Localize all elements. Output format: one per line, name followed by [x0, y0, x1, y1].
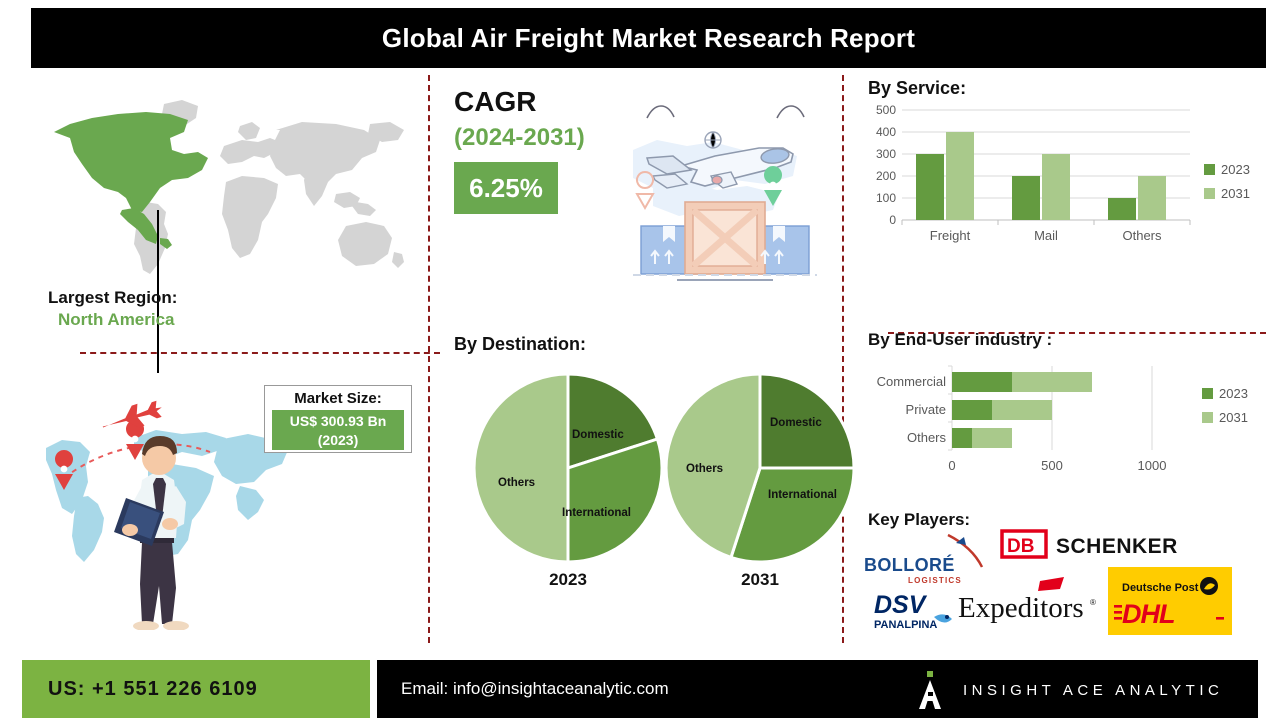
- middle-column: CAGR (2024-2031) 6.25%: [438, 70, 836, 645]
- right-column: By Service: 0 100 200 300 4: [852, 70, 1272, 645]
- y-tick-200: 200: [876, 169, 896, 183]
- infographic-body: Largest Region: North America: [0, 70, 1280, 650]
- bar-private-2023: [952, 400, 992, 420]
- bar-others-2023: [952, 428, 972, 448]
- y-tick-0: 0: [889, 213, 896, 227]
- legend-swatch-2023: [1204, 164, 1215, 175]
- market-size-card: Market Size: US$ 300.93 Bn (2023): [264, 385, 412, 453]
- svg-text:®: ®: [1090, 598, 1096, 607]
- bar-others-2031: [972, 428, 1012, 448]
- footer-phone: US: +1 551 226 6109: [48, 678, 258, 701]
- by-destination-title: By Destination:: [454, 334, 586, 355]
- market-size-value: US$ 300.93 Bn (2023): [272, 410, 404, 450]
- market-size-label: Market Size:: [294, 390, 382, 407]
- pie-slice-label-others: Others: [498, 477, 535, 489]
- pie-slice-label-domestic: Domestic: [770, 417, 822, 429]
- largest-region-value: North America: [58, 310, 177, 330]
- svg-text:SCHENKER: SCHENKER: [1056, 535, 1178, 558]
- cagr-period: (2024-2031): [454, 124, 585, 152]
- y-tick-100: 100: [876, 191, 896, 205]
- pie-year-2023-label: 2023: [468, 570, 668, 590]
- bar-mail-2031: [1042, 154, 1070, 220]
- pie-slice-label-international: International: [768, 489, 837, 501]
- x-tick-0: 0: [948, 458, 955, 473]
- pie-slice-label-others: Others: [686, 463, 723, 475]
- destination-pie-2031: Domestic International Others: [660, 368, 860, 568]
- cagr-value: 6.25%: [469, 173, 543, 204]
- deutsche-post-dhl-logo: Deutsche Post DHL: [1108, 567, 1232, 635]
- legend-label-2023: 2023: [1221, 162, 1250, 177]
- bar-commercial-2023: [952, 372, 1012, 392]
- by-service-title: By Service:: [868, 78, 966, 99]
- pie-year-2031-label: 2031: [660, 570, 860, 590]
- svg-text:BOLLORÉ: BOLLORÉ: [864, 554, 955, 575]
- y-tick-400: 400: [876, 125, 896, 139]
- x-cat-others: Others: [1122, 228, 1162, 243]
- db-schenker-logo: DB SCHENKER: [1002, 531, 1178, 558]
- y-cat-commercial: Commercial: [877, 374, 946, 389]
- company-name: INSIGHT ACE ANALYTIC: [963, 682, 1223, 699]
- x-cat-freight: Freight: [930, 228, 971, 243]
- x-tick-500: 500: [1041, 458, 1063, 473]
- svg-text:DSV: DSV: [874, 591, 928, 619]
- svg-text:DHL: DHL: [1122, 599, 1175, 629]
- company-logo: INSIGHT ACE ANALYTIC: [917, 671, 1223, 709]
- legend-label-2031: 2031: [1219, 410, 1248, 425]
- svg-text:DB: DB: [1007, 536, 1034, 557]
- cagr-title: CAGR: [454, 86, 585, 118]
- page-footer: US: +1 551 226 6109 Email: info@insighta…: [0, 658, 1280, 720]
- key-players-logos: BOLLORÉ LOGISTICS DB SCHENKER DSV PANALP…: [860, 525, 1268, 640]
- y-cat-private: Private: [906, 402, 946, 417]
- dsv-panalpina-logo: DSV PANALPINA: [874, 591, 952, 631]
- bollore-logistics-logo: BOLLORÉ LOGISTICS: [864, 535, 982, 585]
- airplane-cargo-illustration: [623, 92, 828, 282]
- y-cat-others: Others: [907, 430, 947, 445]
- svg-text:LOGISTICS: LOGISTICS: [908, 576, 962, 585]
- expeditors-logo: Expeditors ®: [958, 577, 1096, 624]
- airplane-cargo-icon: [623, 92, 828, 282]
- y-tick-300: 300: [876, 147, 896, 161]
- world-map-region: [40, 90, 418, 290]
- legend-swatch-2023: [1202, 388, 1213, 399]
- cagr-value-box: 6.25%: [454, 162, 558, 214]
- svg-text:Deutsche Post: Deutsche Post: [1122, 582, 1199, 594]
- legend-label-2031: 2031: [1221, 186, 1250, 201]
- y-tick-500: 500: [876, 103, 896, 117]
- svg-text:PANALPINA: PANALPINA: [874, 619, 937, 631]
- legend-swatch-2031: [1204, 188, 1215, 199]
- world-map-icon: [40, 90, 418, 290]
- cagr-block: CAGR (2024-2031) 6.25%: [454, 86, 585, 214]
- by-enduser-title: By End-User industry :: [868, 330, 1052, 350]
- bar-freight-2023: [916, 154, 944, 220]
- businessman-world-map-icon: [38, 390, 298, 630]
- largest-region-block: Largest Region: North America: [48, 288, 177, 330]
- left-column: Largest Region: North America: [32, 70, 422, 645]
- bar-mail-2023: [1012, 176, 1040, 220]
- legend-label-2023: 2023: [1219, 386, 1248, 401]
- footer-phone-box: US: +1 551 226 6109: [22, 660, 370, 718]
- by-service-bar-chart: 0 100 200 300 400 500 Freight Mail Other…: [860, 102, 1260, 244]
- bar-others-2031: [1138, 176, 1166, 220]
- destination-pie-2023: Domestic International Others: [468, 368, 668, 568]
- pie-slice-label-domestic: Domestic: [572, 429, 624, 441]
- insight-ace-a-mark-icon: [917, 671, 947, 709]
- svg-text:Expeditors: Expeditors: [958, 592, 1084, 624]
- x-tick-1000: 1000: [1138, 458, 1167, 473]
- vertical-divider-left: [428, 75, 430, 643]
- pie-slice-label-international: International: [562, 507, 631, 519]
- bar-private-2031: [992, 400, 1052, 420]
- footer-email: Email: info@insightaceanalytic.com: [401, 679, 669, 699]
- horizontal-divider-left: [80, 352, 440, 354]
- bar-freight-2031: [946, 132, 974, 220]
- by-enduser-bar-chart: Commercial Private Others 0 500 1000 202…: [854, 358, 1260, 488]
- bar-others-2023: [1108, 198, 1136, 220]
- footer-info-bar: Email: info@insightaceanalytic.com INSIG…: [377, 660, 1258, 718]
- largest-region-label: Largest Region:: [48, 288, 177, 308]
- bar-commercial-2031: [1012, 372, 1092, 392]
- page-header: Global Air Freight Market Research Repor…: [31, 8, 1266, 68]
- businessman-illustration: [38, 390, 298, 630]
- page-title: Global Air Freight Market Research Repor…: [382, 23, 915, 54]
- legend-swatch-2031: [1202, 412, 1213, 423]
- x-cat-mail: Mail: [1034, 228, 1058, 243]
